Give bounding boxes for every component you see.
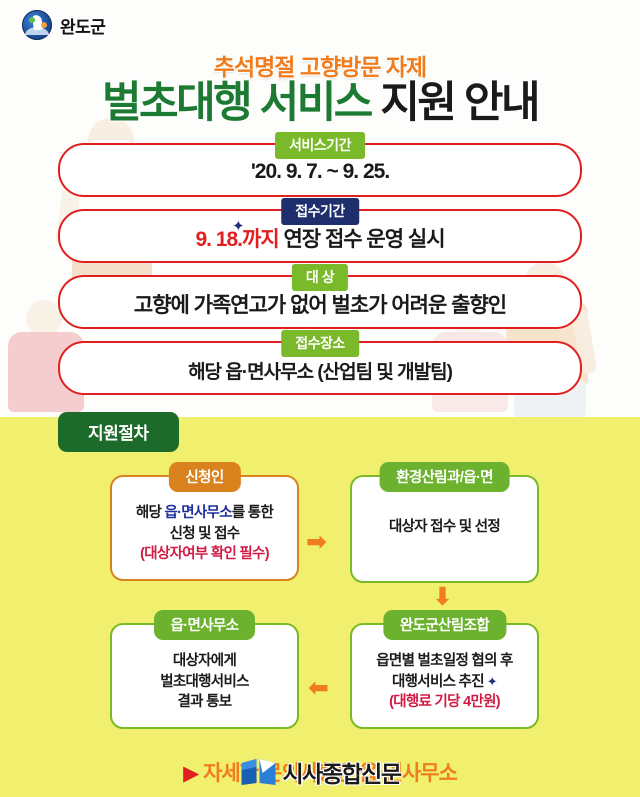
poster-root: 완도군 추석명절 고향방문 자제 벌초대행 서비스 지원 안내 서비스기간 '2… xyxy=(0,0,640,797)
flow-line-2: 대행서비스 추진 xyxy=(392,674,484,690)
flow-line-1a: 해당 xyxy=(136,505,165,521)
flow-card-forestry-dept: 환경산림과/읍·면 대상자 접수 및 선정 xyxy=(350,475,539,583)
sparkle-mark-icon: ✦ xyxy=(484,674,497,689)
flow-line-1c: 대상자 접수 및 선정 xyxy=(389,519,500,535)
flow-card-header: 환경산림과/읍·면 xyxy=(379,462,510,492)
info-row: 서비스기간 '20. 9. 7. ~ 9. 25. xyxy=(58,143,582,197)
flow-card-header: 읍·면사무소 xyxy=(154,610,256,640)
status-badge: 대 상 xyxy=(292,264,348,291)
page-title: 벌초대행 서비스 지원 안내 xyxy=(0,80,640,127)
status-badge: 접수장소 xyxy=(281,330,359,357)
newspaper-book-logo-icon xyxy=(240,757,278,787)
page-title-highlight: 벌초대행 서비스 xyxy=(102,79,371,127)
flow-line-3: (대상자여부 확인 필수) xyxy=(140,546,269,562)
flow-card-forestry-union: 완도군산림조합 읍면별 벌초일정 협의 후 대행서비스 추진 ✦ (대행료 기당… xyxy=(350,623,539,729)
wando-gun-emblem-icon xyxy=(22,10,52,40)
flow-line-3: 결과 통보 xyxy=(178,694,232,710)
flow-card-township-office: 읍·면사무소 대상자에게 벌초대행서비스 결과 통보 xyxy=(110,623,299,729)
info-row-list: 서비스기간 '20. 9. 7. ~ 9. 25. 접수기간 ✦ 9. 18.까… xyxy=(0,143,640,395)
info-row-value: 해당 읍·면사무소 (산업팀 및 개발팀) xyxy=(188,353,452,384)
flow-line-3: (대행료 기당 4만원) xyxy=(389,694,500,710)
arrow-right-icon: ➡ xyxy=(306,530,327,555)
flow-line-1c: 읍면별 벌초일정 협의 후 xyxy=(376,653,512,669)
info-row: 대 상 고향에 가족연고가 없어 벌초가 어려운 출향인 xyxy=(58,275,582,329)
arrow-left-icon: ⬅ xyxy=(308,676,329,701)
flow-line-1c: 를 통한 xyxy=(232,505,273,521)
status-badge: 접수기간 xyxy=(281,198,359,225)
procedure-section: 지원절차 신청인 해당 읍·면사무소를 통한 신청 및 접수 (대상자여부 확인… xyxy=(0,417,640,797)
flow-card-header: 신청인 xyxy=(168,462,240,492)
watermark-text: 시사종합신문 xyxy=(283,755,401,789)
info-row: 접수기간 ✦ 9. 18.까지 연장 접수 운영 실시 xyxy=(58,209,582,263)
status-badge: 서비스기간 xyxy=(275,132,365,159)
flow-line-1b: 읍·면사무소 xyxy=(165,505,232,521)
poster-kicker: 추석명절 고향방문 자제 xyxy=(0,48,640,82)
flow-card-body: 해당 읍·면사무소를 통한 신청 및 접수 (대상자여부 확인 필수) xyxy=(112,477,297,579)
watermark: 시사종합신문 xyxy=(240,755,401,789)
info-row-value: '20. 9. 7. ~ 9. 25. xyxy=(251,156,389,184)
flow-card-body: 대상자에게 벌초대행서비스 결과 통보 xyxy=(112,625,297,727)
sparkle-mark-icon: ✦ xyxy=(232,217,245,235)
flow-card-body: 읍면별 벌초일정 협의 후 대행서비스 추진 ✦ (대행료 기당 4만원) xyxy=(352,625,537,727)
flow-line-1c: 대상자에게 xyxy=(173,653,236,669)
flow-line-2: 신청 및 접수 xyxy=(170,526,240,542)
info-row-suffix: 연장 접수 운영 실시 xyxy=(279,228,445,251)
info-row: 접수장소 해당 읍·면사무소 (산업팀 및 개발팀) xyxy=(58,341,582,395)
flow-card-header: 완도군산림조합 xyxy=(383,610,506,640)
procedure-section-title: 지원절차 xyxy=(58,412,179,452)
triangle-marker-icon: ▶ xyxy=(183,762,198,785)
arrow-down-icon: ⬇ xyxy=(432,585,453,610)
flow-card-applicant: 신청인 해당 읍·면사무소를 통한 신청 및 접수 (대상자여부 확인 필수) xyxy=(110,475,299,581)
flow-line-2: 벌초대행서비스 xyxy=(160,674,248,690)
org-logo: 완도군 xyxy=(22,10,105,40)
page-title-rest: 지원 안내 xyxy=(380,79,538,127)
org-name: 완도군 xyxy=(60,13,105,38)
